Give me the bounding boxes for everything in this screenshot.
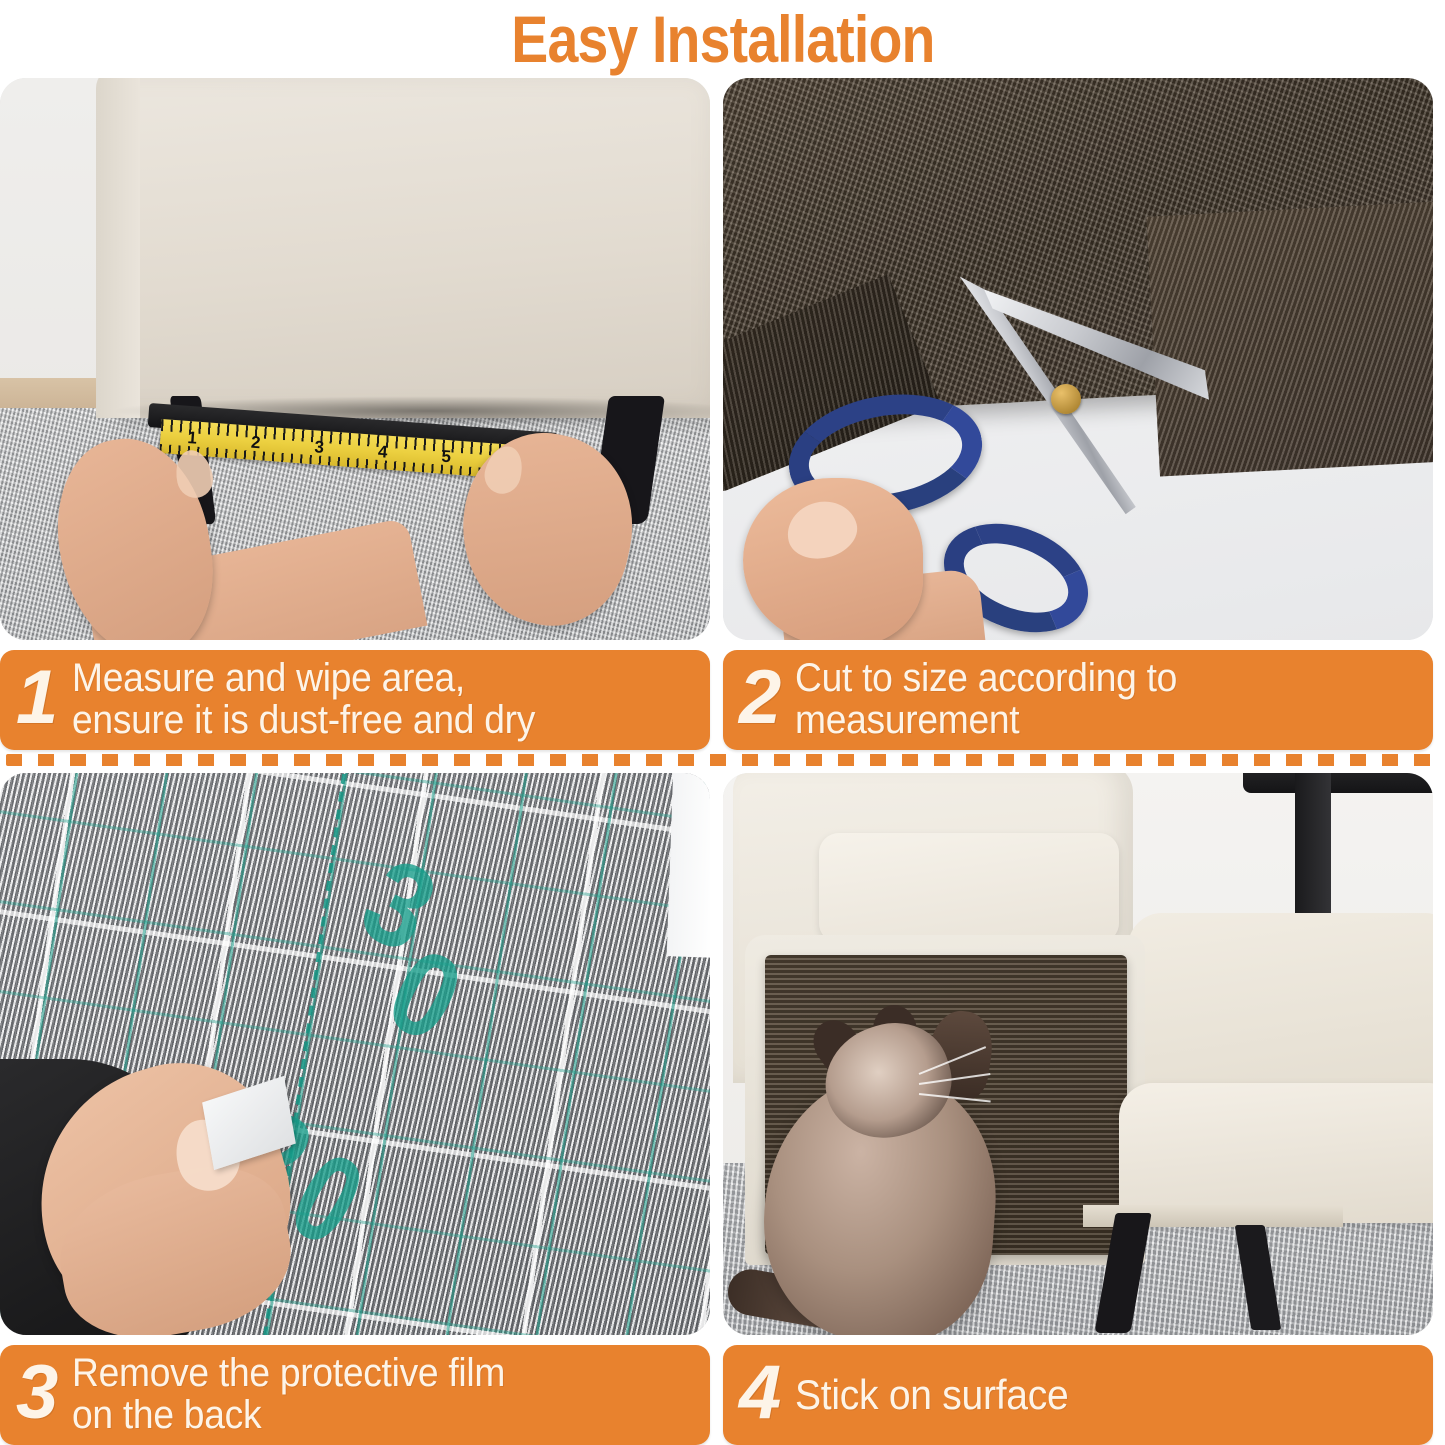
step-2-number: 2 (739, 664, 781, 732)
step-card-1[interactable]: 1 2 3 4 5 6 1 (0, 78, 710, 750)
scissor-pivot-screw (1051, 384, 1081, 414)
side-table-leg (1295, 773, 1331, 933)
side-table-top (1243, 773, 1433, 793)
step-4-caption-bar: 4 Stick on surface (723, 1345, 1433, 1445)
tape-number: 4 (350, 440, 415, 467)
film-lifted-edge (667, 773, 710, 958)
armchair-cushion (1119, 1083, 1433, 1223)
step-3-caption-text: Remove the protective film on the back (72, 1353, 505, 1436)
page-title: Easy Installation (511, 6, 934, 72)
step-1-caption-bar: 1 Measure and wipe area, ensure it is du… (0, 650, 710, 750)
tape-number: 3 (287, 435, 352, 462)
steps-row-2: 3 0 2 0 3 Remove the protective film on … (0, 773, 1445, 1445)
step-3-photo: 3 0 2 0 (0, 773, 710, 1335)
step-2-caption-text: Cut to size according to measurement (795, 658, 1177, 741)
step-1-number: 1 (16, 664, 58, 732)
throw-pillow (819, 833, 1119, 943)
step-1-photo: 1 2 3 4 5 6 (0, 78, 710, 640)
step-3-caption-bar: 3 Remove the protective film on the back (0, 1345, 710, 1445)
infographic-page: Easy Installation (0, 0, 1445, 1445)
step-3-number: 3 (16, 1359, 58, 1427)
step-2-photo (723, 78, 1433, 640)
brown-mat-lower (1146, 200, 1433, 477)
step-card-4[interactable]: 4 Stick on surface (723, 773, 1433, 1445)
step-4-caption-text: Stick on surface (795, 1373, 1068, 1417)
step-2-caption-bar: 2 Cut to size according to measurement (723, 650, 1433, 750)
tape-number: 2 (223, 431, 288, 458)
steps-grid: 1 2 3 4 5 6 1 (0, 78, 1445, 1445)
step-4-photo (723, 773, 1433, 1335)
steps-row-1: 1 2 3 4 5 6 1 (0, 78, 1445, 750)
tape-number: 5 (414, 445, 479, 472)
step-card-2[interactable]: 2 Cut to size according to measurement (723, 78, 1433, 750)
step-4-number: 4 (739, 1359, 781, 1427)
beige-sofa (118, 78, 710, 418)
tape-number: 1 (160, 426, 225, 453)
step-1-caption-text: Measure and wipe area, ensure it is dust… (72, 658, 535, 741)
dashed-divider (6, 754, 1439, 766)
title-bar: Easy Installation (0, 0, 1445, 78)
step-card-3[interactable]: 3 0 2 0 3 Remove the protective film on … (0, 773, 710, 1445)
